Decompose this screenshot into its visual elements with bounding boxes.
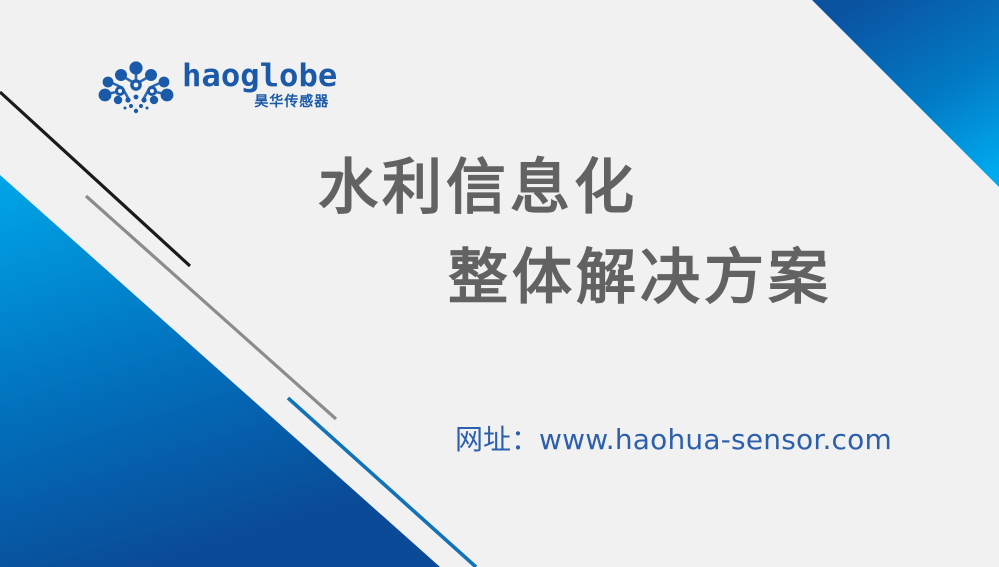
network-dots-logo-icon <box>96 58 176 116</box>
logo-subtitle: 昊华传感器 <box>254 93 329 111</box>
accent-line-blue <box>288 398 476 567</box>
presentation-slide: haoglobe 昊华传感器 水利信息化 整体解决方案 网址：www.haohu… <box>0 0 999 567</box>
company-logo: haoglobe 昊华传感器 <box>96 58 331 116</box>
website-label: 网址： <box>455 423 539 456</box>
title-line-1: 水利信息化 <box>318 150 999 226</box>
title-line-2: 整体解决方案 <box>448 240 999 316</box>
slide-title: 水利信息化 整体解决方案 <box>0 150 999 316</box>
logo-text-group: haoglobe 昊华传感器 <box>182 58 331 111</box>
website-line: 网址：www.haohua-sensor.com <box>455 419 892 460</box>
website-url[interactable]: www.haohua-sensor.com <box>539 423 892 456</box>
logo-wordmark: haoglobe <box>182 60 337 92</box>
